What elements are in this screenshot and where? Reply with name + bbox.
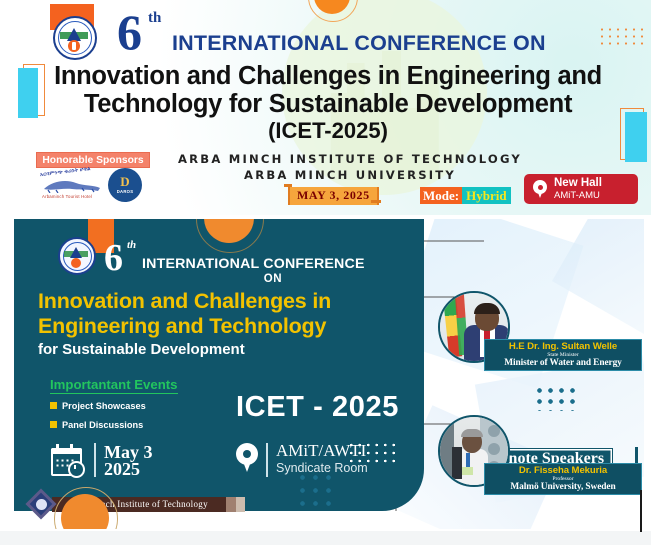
divider — [94, 443, 96, 477]
venue-badge: New Hall AMiT-AMU — [524, 174, 638, 204]
speaker-2-label: Dr. Fisseha Mekuria Professor Malmö Univ… — [484, 463, 642, 495]
venue-subtitle: AMiT-AMU — [554, 190, 600, 201]
poster-teal-panel: 6 th INTERNATIONAL CONFERENCE ON Innovat… — [14, 219, 424, 511]
venue-title: New Hall — [554, 177, 602, 189]
sponsor-logo1-caption: Arbaminch Tourist Hotel — [42, 194, 92, 199]
conference-title-line2: Technology for Sustainable Development — [24, 90, 632, 119]
decor-dot-grid-top-right — [598, 26, 646, 48]
poster-canvas: 6 th INTERNATIONAL CONFERENCE ON Innovat… — [0, 0, 651, 545]
organization-line2: ARBA MINCH UNIVERSITY — [120, 168, 580, 182]
divider — [266, 443, 268, 477]
poster-edition-number: 6 — [104, 241, 123, 275]
decor-dot-grid-right — [534, 385, 580, 411]
edition-number: 6 — [117, 10, 142, 54]
conference-acronym: (ICET-2025) — [24, 118, 632, 144]
speaker-1-label: H.E Dr. Ing. Sultan Welle State Minister… — [484, 339, 642, 371]
event-item-2: Panel Discussions — [62, 420, 143, 430]
speaker-1-affiliation: Minister of Water and Energy — [487, 358, 639, 368]
calendar-clock-icon — [51, 444, 85, 476]
speaker-1-name: H.E Dr. Ing. Sultan Welle — [487, 341, 639, 352]
important-events-heading: Importantant Events — [50, 377, 178, 394]
conference-poster: 6 th INTERNATIONAL CONFERENCE ON Innovat… — [14, 219, 644, 529]
decor-dot-grid-bottom — [296, 471, 336, 513]
mode-badge: Mode:Hybrid — [420, 188, 511, 204]
poster-title-line1: Innovation and Challenges in — [38, 289, 331, 314]
location-pin-icon-poster — [236, 443, 258, 473]
poster-acronym: ICET - 2025 — [236, 391, 399, 424]
decor-date-tick-right — [371, 200, 381, 203]
bullet-square-icon — [50, 402, 57, 409]
top-banner: 6 th INTERNATIONAL CONFERENCE ON Innovat… — [0, 0, 651, 215]
organization-line1: ARBA MINCH INSTITUTE OF TECHNOLOGY — [120, 152, 580, 166]
conference-title-line1: Innovation and Challenges in Engineering… — [24, 62, 632, 91]
sponsors-heading: Honorable Sponsors — [36, 152, 150, 168]
daros-logo-icon: D DAROS — [108, 168, 142, 202]
poster-venue-line1: AMiT/AWTI — [276, 441, 366, 461]
decor-right-edge — [640, 490, 642, 532]
poster-conference-on: ON — [142, 273, 404, 285]
bottom-strip — [0, 531, 651, 545]
event-item-1: Project Showcases — [62, 401, 146, 411]
conference-line: INTERNATIONAL CONFERENCE ON — [172, 31, 546, 56]
poster-edition-suffix: th — [127, 239, 136, 251]
date-badge: MAY 3, 2025 — [288, 187, 379, 205]
edition-suffix: th — [148, 10, 161, 27]
sponsor-logos: አርባምንጭ ቱሪስት ሆቴል Arbaminch Tourist Hotel … — [36, 168, 152, 204]
arba-minch-tourist-hotel-logo-icon: አርባምንጭ ቱሪስት ሆቴል Arbaminch Tourist Hotel — [38, 168, 106, 202]
mode-value: Hybrid — [462, 187, 510, 204]
daros-letter: D — [108, 174, 142, 190]
mode-label: Mode: — [420, 187, 462, 204]
poster-title-line2: Engineering and Technology — [38, 314, 326, 339]
daros-caption: DAROS — [108, 189, 142, 194]
bullet-square-icon — [50, 421, 57, 428]
poster-date-line2: 2025 — [104, 459, 140, 480]
poster-conference-line: INTERNATIONAL CONFERENCE — [142, 256, 365, 272]
crocodile-graphic — [42, 177, 102, 193]
poster-title-line3: for Sustainable Development — [38, 341, 245, 358]
location-pin-icon — [533, 180, 547, 198]
arba-minch-university-seal-icon — [53, 16, 97, 60]
speaker-2-affiliation: Malmö University, Sweden — [487, 482, 639, 492]
arba-minch-university-seal-icon-poster — [58, 237, 96, 275]
speaker-2-name: Dr. Fisseha Mekuria — [487, 465, 639, 476]
